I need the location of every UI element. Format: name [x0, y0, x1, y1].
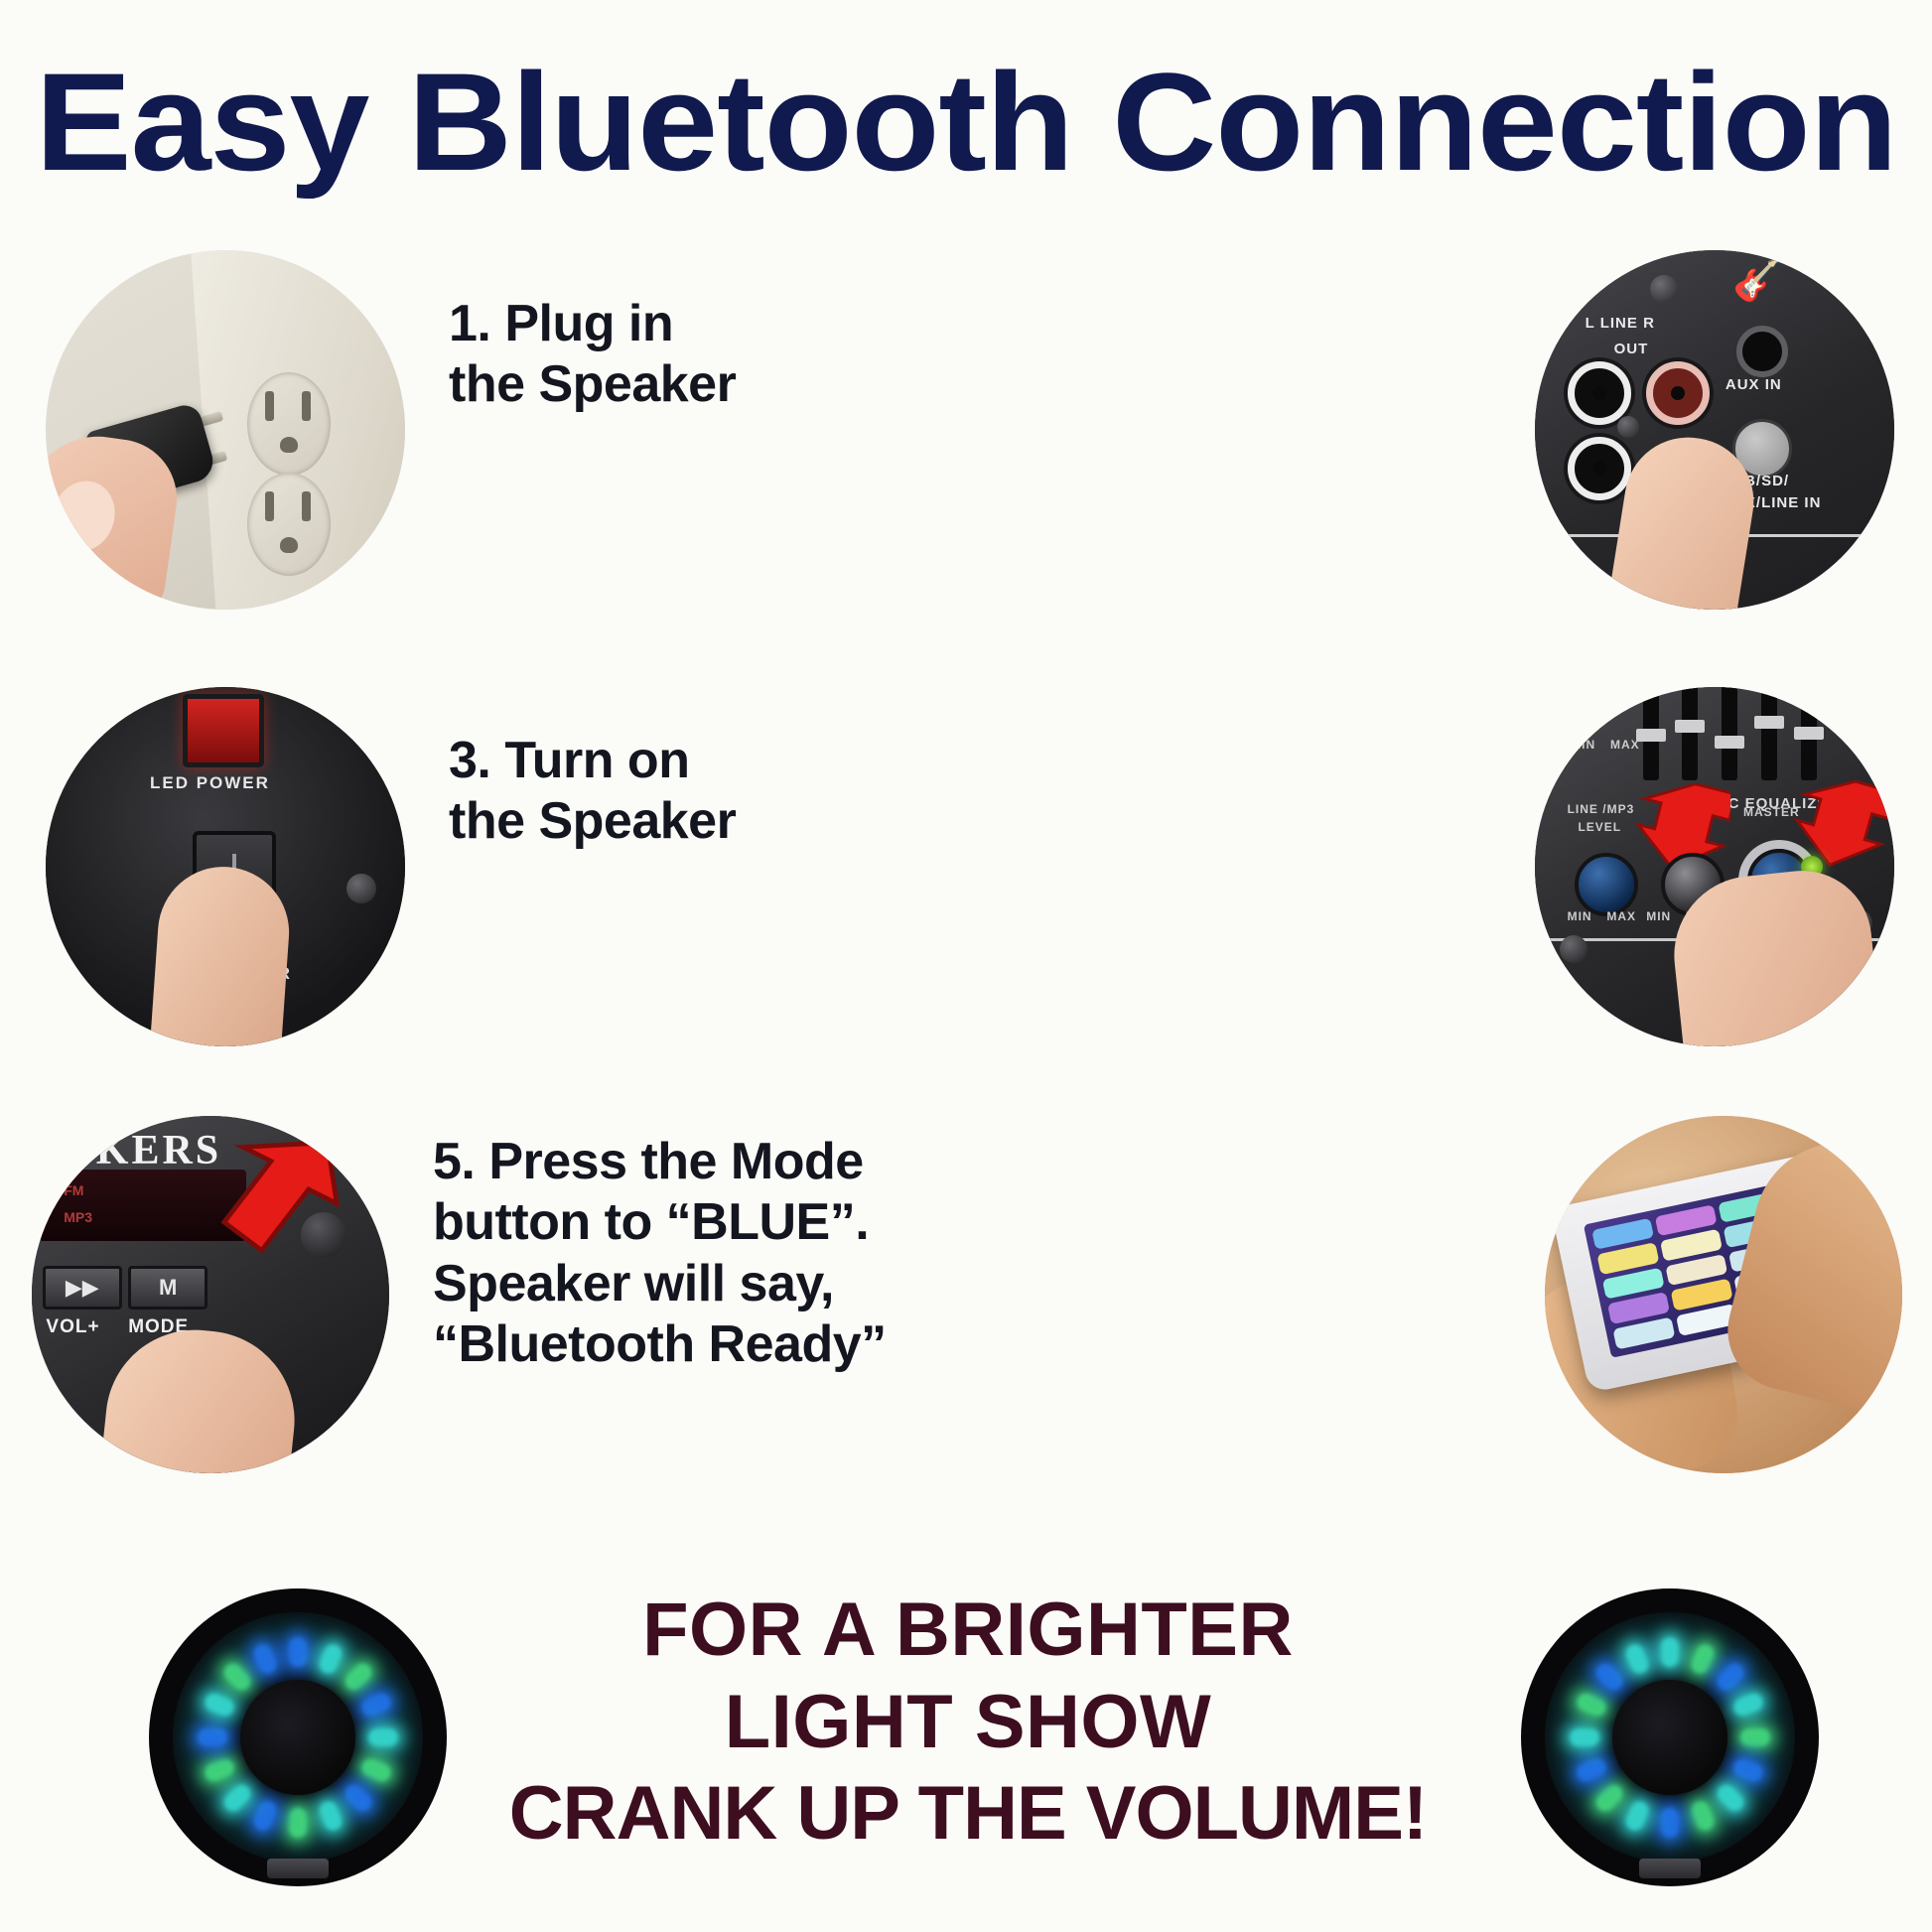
line-out-label: L LINE R — [1586, 315, 1655, 332]
eq-max-label: MAX — [1610, 738, 1640, 752]
led-segment — [1661, 1637, 1679, 1667]
step-2: 2. Press in the small grey button USB/SD… — [966, 236, 1932, 673]
led-power-indicator — [183, 694, 264, 767]
led-segment — [1740, 1728, 1770, 1746]
step-row-2: LED POWER POWER 3. Turn on the Speaker 4… — [0, 673, 1932, 1110]
knob2-min-label: MIN — [1646, 909, 1671, 923]
step-5-text: 5. Press the Mode button to “BLUE”. Spea… — [433, 1132, 959, 1375]
plug-and-outlet-photo — [46, 250, 405, 610]
step-1-line-2: the Speaker — [449, 354, 945, 415]
led-segment — [1661, 1808, 1679, 1838]
step-5-line-3: Speaker will say, — [433, 1254, 959, 1314]
knob1-max-label: MAX — [1606, 909, 1636, 923]
step-3-line-1: 3. Turn on — [449, 731, 945, 791]
step-5-line-2: button to “BLUE”. — [433, 1192, 959, 1253]
step-4: 4. Turn Line Level and Master Volume kno… — [966, 673, 1932, 1110]
step-3-line-2: the Speaker — [449, 791, 945, 852]
mode-button[interactable]: M — [128, 1266, 207, 1310]
aux-in-label: AUX IN — [1725, 376, 1782, 393]
out-label: OUT — [1614, 341, 1649, 357]
vol-up-label: VOL+ — [46, 1316, 99, 1338]
volume-knobs-photo: MIN MAX GRAPHIC EQUALIZER LINE /MP3 LEVE… — [1535, 687, 1894, 1046]
led-segment — [368, 1728, 398, 1746]
step-3-text: 3. Turn on the Speaker — [449, 731, 945, 853]
phone-pairing-photo — [1545, 1116, 1902, 1473]
step-row-1: 1. Plug in the Speaker 2. Press in the s… — [0, 236, 1932, 673]
step-6: 6. Select the “LS” device and pair. READ… — [966, 1110, 1932, 1537]
knob1-min-label: MIN — [1568, 909, 1592, 923]
bottom-banner: FOR A BRIGHTER LIGHT SHOW CRANK UP THE V… — [0, 1567, 1932, 1932]
guitar-icon: 🎸 — [1732, 261, 1782, 301]
step-5-line-4: “Bluetooth Ready” — [433, 1314, 959, 1375]
led-segment — [1570, 1728, 1599, 1746]
step-row-3: KERS FM MP3 ▶▶ VOL+ M MODE 5. — [0, 1110, 1932, 1537]
vol-up-button[interactable]: ▶▶ — [43, 1266, 122, 1310]
led-segment — [198, 1728, 227, 1746]
banner-line-3: CRANK UP THE VOLUME! — [377, 1768, 1559, 1861]
step-5: KERS FM MP3 ▶▶ VOL+ M MODE 5. — [0, 1110, 966, 1537]
line-mp3-label: LINE /MP3 — [1568, 802, 1635, 816]
steps-grid: 1. Plug in the Speaker 2. Press in the s… — [0, 236, 1932, 1537]
fm-indicator: FM — [64, 1182, 83, 1198]
level-label: LEVEL — [1578, 820, 1621, 834]
step-5-line-1: 5. Press the Mode — [433, 1132, 959, 1192]
input-jack-panel-photo: 🎸 L LINE R OUT AUX IN USB/SD/ AUX/LINE I… — [1535, 250, 1894, 610]
led-segment — [289, 1808, 307, 1838]
step-1-line-1: 1. Plug in — [449, 294, 945, 354]
led-power-label: LED POWER — [150, 773, 270, 793]
banner-line-2: LIGHT SHOW — [377, 1677, 1559, 1769]
red-arrow-master-icon — [1794, 777, 1889, 869]
eq-min-label: MIN — [1571, 738, 1595, 752]
red-arrow-mode-icon — [197, 1138, 345, 1267]
led-segment — [289, 1637, 307, 1667]
step-1-text: 1. Plug in the Speaker — [449, 294, 945, 416]
infographic-page: Easy Bluetooth Connection 1. Plug in the… — [0, 0, 1932, 1932]
master-label: MASTER — [1743, 805, 1800, 819]
led-light-ring-right — [1521, 1588, 1819, 1886]
banner-line-1: FOR A BRIGHTER — [377, 1585, 1559, 1677]
mode-button-photo: KERS FM MP3 ▶▶ VOL+ M MODE — [32, 1116, 389, 1473]
page-title: Easy Bluetooth Connection — [0, 52, 1932, 194]
mp3-indicator: MP3 — [64, 1209, 92, 1225]
power-switch-photo: LED POWER POWER — [46, 687, 405, 1046]
step-3: LED POWER POWER 3. Turn on the Speaker — [0, 673, 966, 1110]
step-1: 1. Plug in the Speaker — [0, 236, 966, 673]
line-level-knob[interactable] — [1575, 853, 1638, 916]
banner-text: FOR A BRIGHTER LIGHT SHOW CRANK UP THE V… — [377, 1585, 1559, 1861]
